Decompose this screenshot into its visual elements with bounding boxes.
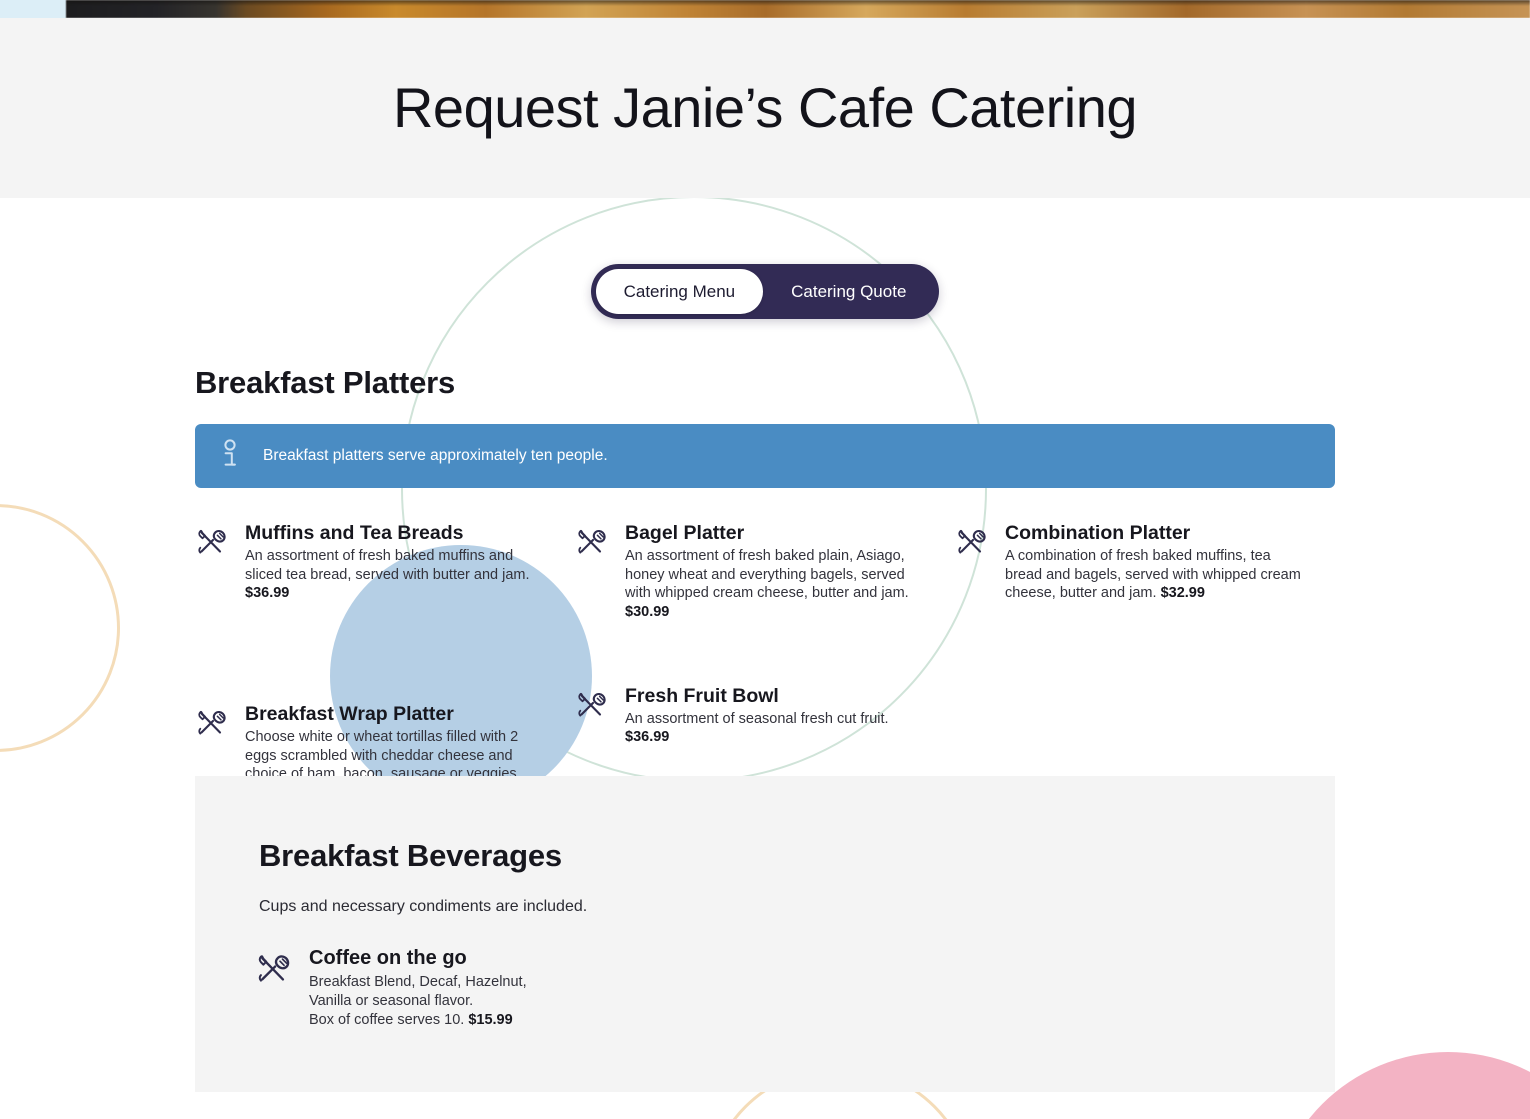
menu-item-bagel-platter: Bagel Platter An assortment of fresh bak…: [575, 521, 927, 622]
utensils-icon: [255, 952, 295, 1030]
menu-item-combination-platter: Combination Platter A combination of fre…: [955, 521, 1307, 603]
utensils-icon: [955, 527, 991, 603]
hero-banner-image: [0, 0, 1530, 18]
tab-catering-menu[interactable]: Catering Menu: [596, 269, 764, 314]
menu-item-serving-note: Box of coffee serves 10.: [309, 1012, 464, 1028]
menu-item-description: An assortment of fresh baked plain, Asia…: [625, 547, 927, 621]
menu-item-body: Fresh Fruit Bowl An assortment of season…: [625, 684, 927, 747]
menu-item-body: Combination Platter A combination of fre…: [1005, 521, 1307, 603]
menu-item-title: Fresh Fruit Bowl: [625, 684, 927, 708]
menu-item-title: Combination Platter: [1005, 521, 1307, 545]
tab-catering-quote[interactable]: Catering Quote: [763, 269, 934, 314]
info-icon: [219, 439, 241, 474]
menu-item-description-text: An assortment of seasonal fresh cut frui…: [625, 711, 889, 727]
menu-item-title: Bagel Platter: [625, 521, 927, 545]
menu-item-price: $36.99: [245, 585, 289, 601]
menu-item-description: A combination of fresh baked muffins, te…: [1005, 547, 1307, 603]
menu-item-title: Breakfast Wrap Platter: [245, 702, 547, 726]
utensils-icon: [575, 527, 611, 622]
utensils-icon: [195, 527, 231, 603]
menu-item-muffins-and-tea-breads: Muffins and Tea Breads An assortment of …: [195, 521, 547, 603]
menu-item-title: Muffins and Tea Breads: [245, 521, 547, 545]
menu-item-price: $36.99: [625, 729, 669, 745]
menu-item-fresh-fruit-bowl: Fresh Fruit Bowl An assortment of season…: [575, 684, 927, 747]
menu-item-price: $15.99: [468, 1012, 512, 1028]
utensils-icon: [575, 690, 611, 747]
section-heading-breakfast-platters: Breakfast Platters: [195, 365, 455, 401]
menu-item-title: Coffee on the go: [309, 946, 527, 971]
catering-view-toggle[interactable]: Catering Menu Catering Quote: [591, 264, 940, 319]
menu-item-description-line-3: Box of coffee serves 10. $15.99: [309, 1011, 527, 1030]
menu-item-body: Muffins and Tea Breads An assortment of …: [245, 521, 547, 603]
menu-item-description-line-1: Breakfast Blend, Decaf, Hazelnut,: [309, 973, 527, 992]
hero-food-photo: [66, 0, 1530, 18]
menu-item-description-text: Choose white or wheat tortillas filled w…: [245, 729, 521, 782]
page-title: Request Janie’s Cafe Catering: [393, 77, 1137, 139]
breakfast-beverages-panel: Breakfast Beverages Cups and necessary c…: [195, 776, 1335, 1092]
info-banner: Breakfast platters serve approximately t…: [195, 424, 1335, 488]
section-heading-breakfast-beverages: Breakfast Beverages: [259, 838, 562, 874]
menu-item-price: $30.99: [625, 604, 669, 620]
menu-item-description-text: A combination of fresh baked muffins, te…: [1005, 548, 1301, 601]
catering-view-toggle-wrapper: Catering Menu Catering Quote: [0, 264, 1530, 319]
menu-item-description-line-2: Vanilla or seasonal flavor.: [309, 992, 527, 1011]
menu-item-body: Coffee on the go Breakfast Blend, Decaf,…: [309, 946, 527, 1030]
menu-item-description-text: An assortment of fresh baked muffins and…: [245, 548, 530, 583]
menu-item-description-text: An assortment of fresh baked plain, Asia…: [625, 548, 909, 601]
menu-item-body: Bagel Platter An assortment of fresh bak…: [625, 521, 927, 622]
menu-item-description: An assortment of fresh baked muffins and…: [245, 547, 547, 603]
menu-item-description: An assortment of seasonal fresh cut frui…: [625, 710, 927, 747]
hero-sky-patch: [0, 0, 66, 18]
breakfast-beverages-note: Cups and necessary condiments are includ…: [259, 898, 587, 916]
menu-item-price: $32.99: [1161, 585, 1205, 601]
page-title-band: Request Janie’s Cafe Catering: [0, 18, 1530, 198]
catering-page: Request Janie’s Cafe Catering Catering M…: [0, 0, 1530, 1119]
menu-item-description: Breakfast Blend, Decaf, Hazelnut, Vanill…: [309, 973, 527, 1030]
info-banner-text: Breakfast platters serve approximately t…: [263, 447, 608, 465]
menu-item-coffee-on-the-go: Coffee on the go Breakfast Blend, Decaf,…: [255, 946, 527, 1030]
